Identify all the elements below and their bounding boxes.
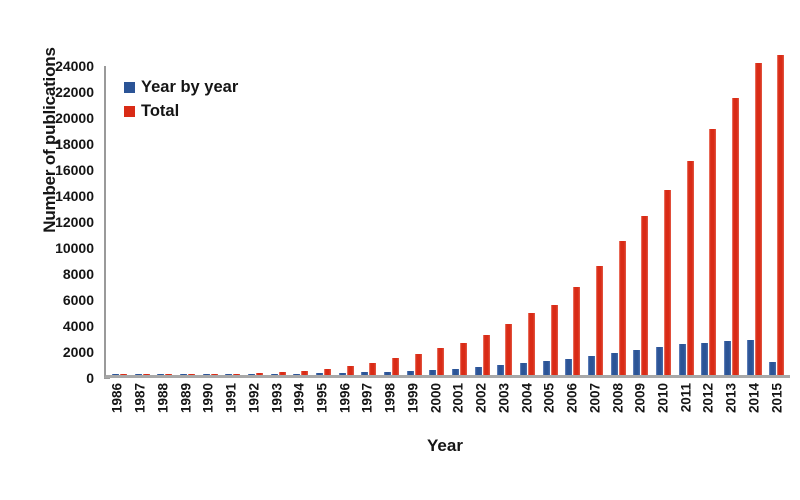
bar-group <box>697 66 720 375</box>
bar-total <box>755 63 762 375</box>
x-axis-title: Year <box>100 436 790 456</box>
x-axis-tick-cell: 2002 <box>470 381 493 433</box>
x-axis-tick-label: 2001 <box>451 383 466 413</box>
bar-year-by-year <box>611 353 618 375</box>
bar-year-by-year <box>656 347 663 375</box>
bar-year-by-year <box>225 374 232 375</box>
bar-total <box>732 98 739 375</box>
x-axis-tick-label: 1999 <box>405 383 420 413</box>
publications-bar-chart: Number of publications 24000220002000018… <box>0 0 800 500</box>
x-axis-tick-label: 1991 <box>224 383 239 413</box>
x-axis-tick-label: 1986 <box>110 383 125 413</box>
x-axis-tick-cell: 2008 <box>606 381 629 433</box>
x-axis-tick-label: 1997 <box>360 383 375 413</box>
x-axis-tick-label: 2012 <box>701 383 716 413</box>
y-axis-tick-label: 8000 <box>22 266 94 282</box>
bar-year-by-year <box>633 350 640 375</box>
bar-group <box>607 66 630 375</box>
x-axis-tick-cell: 2001 <box>447 381 470 433</box>
x-axis-tick-label: 1992 <box>246 383 261 413</box>
bar-group <box>335 66 358 375</box>
bar-total <box>120 374 127 375</box>
x-axis-tick-label: 2007 <box>587 383 602 413</box>
bar-year-by-year <box>157 374 164 375</box>
x-axis-tick-cell: 2007 <box>583 381 606 433</box>
legend-swatch-icon <box>124 106 135 117</box>
y-axis-tick-label: 24000 <box>22 58 94 74</box>
x-axis-tick-label: 1990 <box>201 383 216 413</box>
bar-year-by-year <box>769 362 776 375</box>
bar-total <box>528 313 535 375</box>
bar-year-by-year <box>248 374 255 375</box>
bar-group <box>539 66 562 375</box>
bar-total <box>573 287 580 375</box>
x-axis-tick-label: 1995 <box>314 383 329 413</box>
x-axis-tick-cell: 2012 <box>697 381 720 433</box>
x-axis-tick-cell: 1992 <box>242 381 265 433</box>
y-axis-tick-label: 22000 <box>22 84 94 100</box>
bar-total <box>777 55 784 375</box>
x-axis-tick-cell: 1989 <box>174 381 197 433</box>
x-axis-tick-cell: 1994 <box>288 381 311 433</box>
bar-group <box>425 66 448 375</box>
y-axis-tick-label: 14000 <box>22 188 94 204</box>
bar-total <box>279 372 286 375</box>
x-axis-tick-label: 2006 <box>565 383 580 413</box>
bar-group <box>743 66 766 375</box>
x-axis-tick-label: 2000 <box>428 383 443 413</box>
bar-year-by-year <box>701 343 708 376</box>
bar-year-by-year <box>679 344 686 375</box>
x-axis-tick-cell: 1995 <box>311 381 334 433</box>
legend-label: Total <box>141 102 179 121</box>
bar-total <box>369 363 376 375</box>
x-axis-tick-labels: 1986198719881989199019911992199319941995… <box>104 381 790 433</box>
bar-year-by-year <box>747 340 754 375</box>
x-axis-tick-cell: 1986 <box>106 381 129 433</box>
x-axis-tick-cell: 1996 <box>333 381 356 433</box>
legend-item: Total <box>124 102 238 121</box>
x-axis-tick-label: 1987 <box>133 383 148 413</box>
x-axis-tick-cell: 1993 <box>265 381 288 433</box>
x-axis-tick-cell: 2006 <box>561 381 584 433</box>
x-axis-tick-label: 2005 <box>542 383 557 413</box>
legend-item: Year by year <box>124 78 238 97</box>
x-axis-tick-cell: 2015 <box>765 381 788 433</box>
bar-total <box>211 374 218 375</box>
bar-year-by-year <box>588 356 595 375</box>
bar-total <box>415 354 422 375</box>
x-axis-tick-cell: 2013 <box>720 381 743 433</box>
bar-total <box>188 374 195 375</box>
bar-year-by-year <box>316 373 323 375</box>
bar-year-by-year <box>361 372 368 375</box>
y-axis-tick-label: 12000 <box>22 214 94 230</box>
x-axis-tick-cell: 2005 <box>538 381 561 433</box>
bar-year-by-year <box>135 374 142 375</box>
x-axis-tick-cell: 2004 <box>515 381 538 433</box>
x-axis-tick-cell: 1997 <box>356 381 379 433</box>
bar-total <box>437 348 444 375</box>
bar-group <box>561 66 584 375</box>
bar-total <box>709 129 716 375</box>
x-axis-tick-label: 1996 <box>337 383 352 413</box>
x-axis-tick-cell: 2000 <box>424 381 447 433</box>
y-axis-tick-label: 18000 <box>22 136 94 152</box>
x-axis-tick-label: 1993 <box>269 383 284 413</box>
bar-group <box>448 66 471 375</box>
bar-total <box>505 324 512 375</box>
bar-total <box>687 161 694 376</box>
x-axis-tick-label: 1998 <box>383 383 398 413</box>
x-axis-tick-cell: 2009 <box>629 381 652 433</box>
bar-total <box>301 371 308 375</box>
x-axis-tick-label: 1989 <box>178 383 193 413</box>
bar-total <box>392 358 399 375</box>
x-axis-tick-cell: 2010 <box>652 381 675 433</box>
bar-year-by-year <box>520 363 527 375</box>
legend-label: Year by year <box>141 78 238 97</box>
chart-legend: Year by yearTotal <box>124 78 238 121</box>
bar-year-by-year <box>112 374 119 375</box>
bar-group <box>584 66 607 375</box>
x-axis-tick-label: 1994 <box>292 383 307 413</box>
bar-year-by-year <box>724 341 731 375</box>
x-axis-tick-cell: 2011 <box>674 381 697 433</box>
bar-group <box>765 66 788 375</box>
legend-swatch-icon <box>124 82 135 93</box>
x-axis-tick-cell: 1998 <box>379 381 402 433</box>
bar-year-by-year <box>180 374 187 375</box>
x-axis-tick-label: 1988 <box>155 383 170 413</box>
x-axis-tick-label: 2015 <box>769 383 784 413</box>
y-axis-tick-label: 10000 <box>22 240 94 256</box>
bar-group <box>289 66 312 375</box>
bar-group <box>380 66 403 375</box>
bar-year-by-year <box>384 372 391 375</box>
bar-year-by-year <box>339 373 346 375</box>
bar-total <box>233 374 240 375</box>
x-axis-tick-label: 2008 <box>610 383 625 413</box>
bar-total <box>551 305 558 375</box>
bar-year-by-year <box>497 365 504 375</box>
x-axis-tick-cell: 1990 <box>197 381 220 433</box>
y-axis-tick-label: 16000 <box>22 162 94 178</box>
bar-group <box>403 66 426 375</box>
y-axis-tick-label: 6000 <box>22 292 94 308</box>
bar-year-by-year <box>565 359 572 375</box>
bar-total <box>347 366 354 375</box>
bar-group <box>493 66 516 375</box>
x-axis-tick-cell: 1988 <box>151 381 174 433</box>
x-axis-tick-cell: 1999 <box>402 381 425 433</box>
y-axis-tick-label: 4000 <box>22 318 94 334</box>
bar-total <box>483 335 490 375</box>
bar-year-by-year <box>293 374 300 375</box>
x-axis-tick-cell: 1987 <box>129 381 152 433</box>
x-axis-tick-label: 2003 <box>496 383 511 413</box>
bar-year-by-year <box>271 374 278 375</box>
x-axis-tick-label: 2004 <box>519 383 534 413</box>
bar-group <box>312 66 335 375</box>
x-axis-tick-cell: 2003 <box>492 381 515 433</box>
bar-total <box>460 343 467 375</box>
bar-group <box>267 66 290 375</box>
y-axis-tick-label: 20000 <box>22 110 94 126</box>
bar-year-by-year <box>475 367 482 375</box>
bar-total <box>256 373 263 375</box>
x-axis-tick-label: 2011 <box>678 383 693 412</box>
bar-year-by-year <box>543 361 550 375</box>
bar-group <box>720 66 743 375</box>
bar-group <box>652 66 675 375</box>
bar-total <box>619 241 626 375</box>
y-axis-tick-label: 0 <box>22 370 94 386</box>
bar-total <box>641 216 648 375</box>
bar-group <box>629 66 652 375</box>
x-axis-tick-label: 2009 <box>633 383 648 413</box>
x-axis-tick-label: 2014 <box>746 383 761 413</box>
bar-total <box>143 374 150 375</box>
x-axis-tick-label: 2013 <box>724 383 739 413</box>
x-axis-tick-label: 2010 <box>655 383 670 413</box>
bar-group <box>516 66 539 375</box>
bar-total <box>324 369 331 375</box>
x-axis-tick-cell: 1991 <box>220 381 243 433</box>
bar-group <box>675 66 698 375</box>
bar-year-by-year <box>203 374 210 375</box>
bar-year-by-year <box>452 369 459 376</box>
bar-year-by-year <box>429 370 436 375</box>
bar-year-by-year <box>407 371 414 375</box>
y-axis-tick-mark <box>104 378 110 379</box>
bar-group <box>244 66 267 375</box>
bar-group <box>357 66 380 375</box>
x-axis-tick-label: 2002 <box>474 383 489 413</box>
bar-total <box>664 190 671 375</box>
bar-total <box>165 374 172 375</box>
bar-group <box>471 66 494 375</box>
x-axis-tick-cell: 2014 <box>743 381 766 433</box>
y-axis-tick-label: 2000 <box>22 344 94 360</box>
bar-total <box>596 266 603 375</box>
